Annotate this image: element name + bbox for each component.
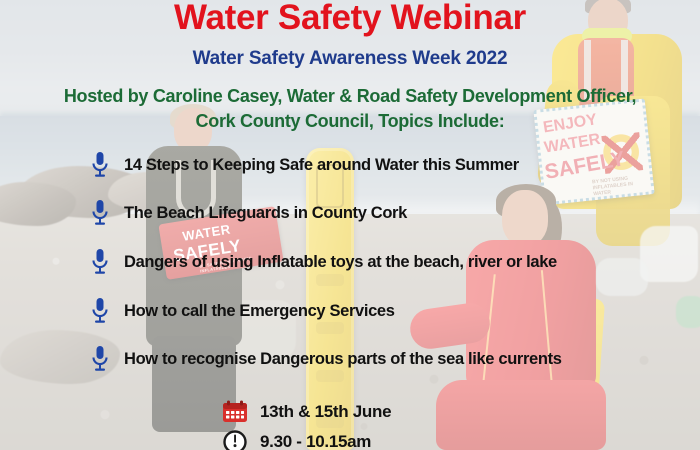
poster-content: Water Safety Webinar Water Safety Awaren… (0, 0, 700, 450)
topic-label: Dangers of using Inflatable toys at the … (124, 253, 557, 272)
microphone-icon (88, 151, 112, 179)
hosted-line-2: Cork County Council, Topics Include: (0, 109, 700, 134)
clock-icon (222, 430, 248, 450)
topic-item-4: How to call the Emergency Services (88, 296, 395, 326)
microphone-icon (88, 345, 112, 373)
microphone-icon (88, 297, 112, 325)
topic-item-2: The Beach Lifeguards in County Cork (88, 198, 407, 228)
calendar-icon (222, 400, 248, 424)
topic-item-5: How to recognise Dangerous parts of the … (88, 344, 562, 374)
time-label: 9.30 - 10.15am (260, 432, 371, 450)
poster-subtitle: Water Safety Awareness Week 2022 (0, 48, 700, 70)
microphone-icon (88, 199, 112, 227)
topic-item-3: Dangers of using Inflatable toys at the … (88, 247, 557, 277)
hosted-by-text: Hosted by Caroline Casey, Water & Road S… (0, 84, 700, 134)
topic-label: The Beach Lifeguards in County Cork (124, 204, 407, 223)
topic-label: How to recognise Dangerous parts of the … (124, 350, 562, 369)
topic-label: How to call the Emergency Services (124, 302, 395, 321)
poster-title: Water Safety Webinar (0, 0, 700, 38)
date-row: 13th & 15th June (222, 398, 391, 426)
hosted-line-1: Hosted by Caroline Casey, Water & Road S… (0, 84, 700, 109)
microphone-icon (88, 248, 112, 276)
topic-item-1: 14 Steps to Keeping Safe around Water th… (88, 150, 519, 180)
webinar-poster: WATER SAFELY BE SAFE BY NOT USING INFLAT… (0, 0, 700, 450)
date-label: 13th & 15th June (260, 402, 391, 422)
topic-label: 14 Steps to Keeping Safe around Water th… (124, 156, 519, 175)
time-row: 9.30 - 10.15am (222, 428, 371, 450)
